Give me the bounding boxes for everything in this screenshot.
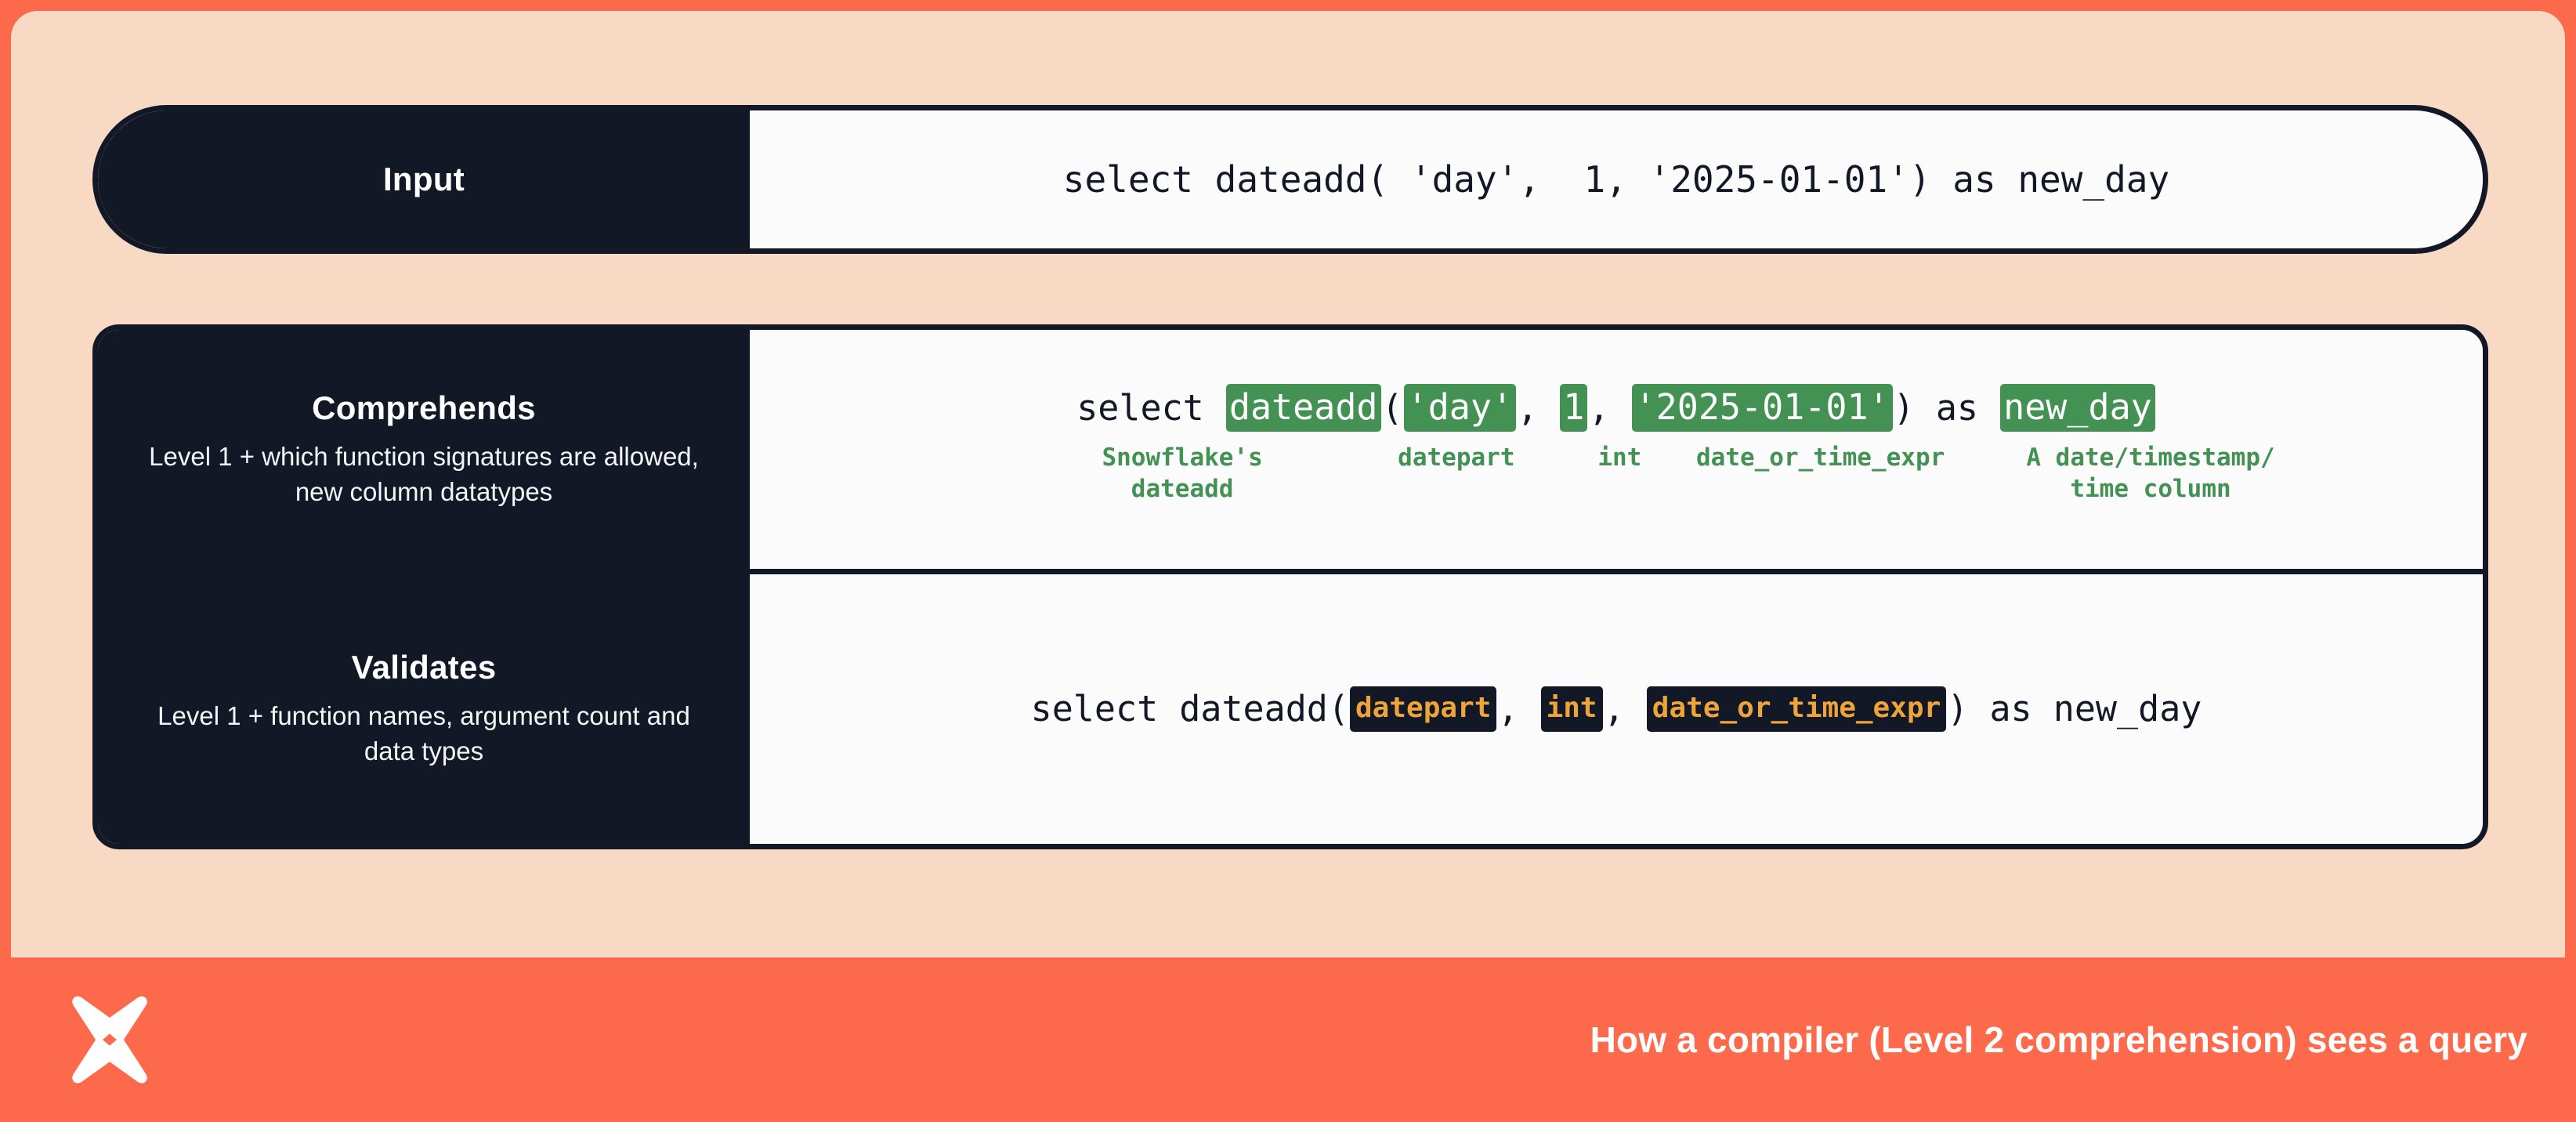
comprehends-annotation-0: Snowflake's dateadd xyxy=(1102,443,1262,505)
comprehends-annotation-1: datepart xyxy=(1398,443,1514,474)
comprehends-label-panel: Comprehends Level 1 + which function sig… xyxy=(98,330,750,569)
input-row-card: Input select dateadd( 'day', 1, '2025-01… xyxy=(92,105,2488,254)
comprehends-code-panel: select dateadd('day', 1, '2025-01-01') a… xyxy=(750,330,2483,569)
footer-caption: How a compiler (Level 2 comprehension) s… xyxy=(1590,1019,2527,1061)
validates-token-0: select dateadd( xyxy=(1031,690,1349,727)
comprehends-row-subtitle: Level 1 + which function signatures are … xyxy=(132,440,715,510)
validates-query-code: select dateadd(datepart, int, date_or_ti… xyxy=(1031,686,2202,732)
input-row-label-panel: Input xyxy=(98,110,750,248)
comprehends-query-code: select dateadd('day', 1, '2025-01-01') a… xyxy=(1076,384,2156,432)
input-row-code-panel: select dateadd( 'day', 1, '2025-01-01') … xyxy=(750,110,2483,248)
validates-label-panel: Validates Level 1 + function names, argu… xyxy=(98,574,750,844)
validates-token-6: ) as new_day xyxy=(1947,690,2202,727)
comprehends-annotation-3: date_or_time_expr xyxy=(1696,443,1945,474)
comprehends-token-2: ( xyxy=(1382,389,1403,426)
levels-card: Comprehends Level 1 + which function sig… xyxy=(92,324,2488,849)
validates-row-title: Validates xyxy=(352,649,497,686)
infographic-frame: Input select dateadd( 'day', 1, '2025-01… xyxy=(0,0,2576,1122)
footer-bar: How a compiler (Level 2 comprehension) s… xyxy=(0,957,2576,1122)
validates-token-4: , xyxy=(1604,690,1646,727)
comprehends-token-7: '2025-01-01' xyxy=(1632,384,1893,432)
comprehends-token-3: 'day' xyxy=(1404,384,1516,432)
input-query-code: select dateadd( 'day', 1, '2025-01-01') … xyxy=(1063,161,2169,198)
brand-x-logo xyxy=(60,990,160,1090)
comprehends-token-5: 1 xyxy=(1560,384,1587,432)
validates-token-3: int xyxy=(1541,686,1603,732)
validates-token-5: date_or_time_expr xyxy=(1647,686,1946,732)
comprehends-annotation-2: int xyxy=(1597,443,1641,474)
comprehends-token-8: ) as xyxy=(1894,389,1999,426)
comprehends-token-9: new_day xyxy=(2000,384,2155,432)
validates-row: Validates Level 1 + function names, argu… xyxy=(98,574,2483,844)
comprehends-token-0: select xyxy=(1076,389,1225,426)
validates-token-1: datepart xyxy=(1350,686,1496,732)
comprehends-token-6: , xyxy=(1588,389,1630,426)
validates-token-2: , xyxy=(1497,690,1539,727)
comprehends-token-1: dateadd xyxy=(1226,384,1381,432)
input-row-title: Input xyxy=(383,161,465,198)
comprehends-row: Comprehends Level 1 + which function sig… xyxy=(98,330,2483,574)
comprehends-token-4: , xyxy=(1517,389,1559,426)
comprehends-annotations: Snowflake's dateadddatepartintdate_or_ti… xyxy=(765,443,2467,515)
validates-row-subtitle: Level 1 + function names, argument count… xyxy=(132,699,715,769)
validates-code-panel: select dateadd(datepart, int, date_or_ti… xyxy=(750,574,2483,844)
comprehends-row-title: Comprehends xyxy=(312,389,536,427)
diagram-canvas: Input select dateadd( 'day', 1, '2025-01… xyxy=(11,11,2565,957)
comprehends-annotation-4: A date/timestamp/ time column xyxy=(2026,443,2274,505)
